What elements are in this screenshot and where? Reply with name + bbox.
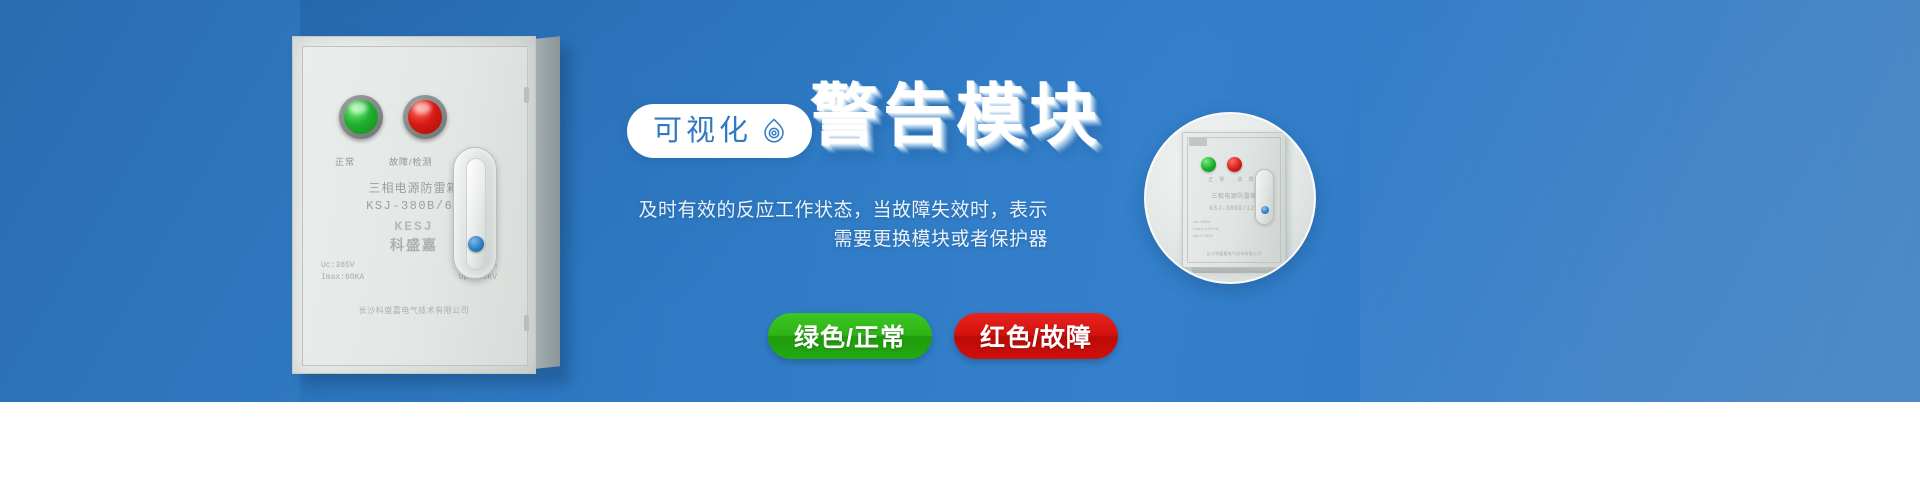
cabinet-brand-cn: 科盛嘉 bbox=[293, 235, 535, 255]
fault-lamp-label: 故障/检测 bbox=[389, 155, 433, 168]
normal-lamp-label: 正常 bbox=[335, 155, 355, 168]
circle-lock-knob bbox=[1261, 206, 1269, 214]
circle-fault-lamp bbox=[1227, 157, 1242, 172]
cabinet-hinge-bottom bbox=[524, 315, 529, 331]
banner-root: 正常 故障/检测 三相电源防雷箱 KSJ-380B/60 KESJ 科盛嘉 Uc… bbox=[0, 0, 1920, 500]
banner-title-wrap: 警告模块 bbox=[810, 82, 1102, 150]
handle-inner bbox=[466, 158, 486, 270]
cabinet-company-name: 长沙科盛嘉电气技术有限公司 bbox=[293, 305, 535, 316]
banner-background-highlight bbox=[1360, 0, 1920, 402]
circle-cabinet-body: 正常 故障 三相电源防雷箱 KSJ-380D/120 Uc:385V Imax:… bbox=[1182, 132, 1286, 268]
normal-lamp bbox=[339, 95, 383, 139]
circle-company-name: 长沙科盛嘉电气技术有限公司 bbox=[1183, 251, 1285, 257]
circle-spec-1: Uc:385V bbox=[1193, 219, 1211, 224]
visualization-badge: 可视化 bbox=[627, 104, 812, 158]
lamp-gloss bbox=[413, 102, 431, 114]
status-pill-normal[interactable]: 绿色/正常 bbox=[768, 313, 932, 359]
circle-spec-2: Imax:120KA bbox=[1193, 226, 1219, 231]
banner-subtitle-line-1: 及时有效的反应工作状态，当故障失效时，表示 bbox=[638, 196, 1048, 225]
circle-cabinet-brand-tag bbox=[1189, 138, 1207, 146]
fault-lamp bbox=[403, 95, 447, 139]
eye-location-icon bbox=[762, 118, 786, 144]
secondary-product-photo-circle: 正常 故障 三相电源防雷箱 KSJ-380D/120 Uc:385V Imax:… bbox=[1144, 112, 1316, 284]
product-photo: 正常 故障/检测 三相电源防雷箱 KSJ-380B/60 KESJ 科盛嘉 Uc… bbox=[292, 36, 560, 374]
banner-bottom-white-band bbox=[0, 402, 1920, 500]
cabinet-product-name: 三相电源防雷箱 bbox=[293, 179, 535, 196]
banner-background-left-strip bbox=[0, 0, 300, 402]
handle-lock-knob bbox=[468, 236, 484, 252]
banner-subtitle-line-2: 需要更换模块或者保护器 bbox=[638, 225, 1048, 254]
circle-normal-lamp bbox=[1201, 157, 1216, 172]
circle-spec-3: Up:2.5KV bbox=[1193, 233, 1213, 238]
banner-title: 警告模块 bbox=[810, 82, 1102, 150]
cabinet-spec-uc: Uc:385V bbox=[321, 261, 355, 270]
cabinet-spec-imax: Imax:60KA bbox=[321, 273, 364, 282]
cabinet-model: KSJ-380B/60 bbox=[293, 199, 535, 213]
lamp-gloss bbox=[349, 102, 367, 114]
circle-cabinet-base bbox=[1192, 267, 1276, 273]
status-pill-row: 绿色/正常 红色/故障 bbox=[768, 313, 1118, 359]
banner-subtitle: 及时有效的反应工作状态，当故障失效时，表示 需要更换模块或者保护器 bbox=[638, 196, 1048, 255]
status-pill-fault[interactable]: 红色/故障 bbox=[954, 313, 1118, 359]
cabinet-brand-en: KESJ bbox=[293, 219, 535, 234]
cabinet-door-handle bbox=[453, 147, 497, 279]
cabinet-hinge-top bbox=[524, 87, 529, 103]
cabinet-body: 正常 故障/检测 三相电源防雷箱 KSJ-380B/60 KESJ 科盛嘉 Uc… bbox=[292, 36, 536, 374]
circle-door-handle bbox=[1255, 169, 1274, 225]
visualization-badge-label: 可视化 bbox=[653, 117, 752, 146]
